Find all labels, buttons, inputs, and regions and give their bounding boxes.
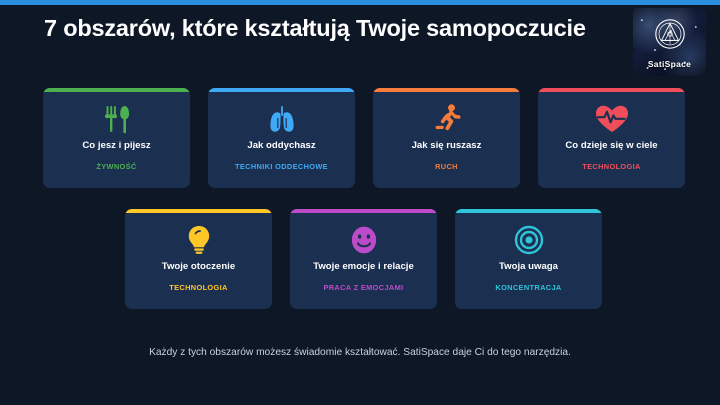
card-accent-bar <box>373 88 520 92</box>
footer-note: Każdy z tych obszarów możesz świadomie k… <box>0 347 720 358</box>
lightbulb-icon <box>185 220 213 260</box>
card-tag: KONCENTRACJA <box>495 283 561 292</box>
header: 7 obszarów, które kształtują Twoje samop… <box>44 13 604 44</box>
card-accent-bar <box>455 209 602 213</box>
smiley-face-icon <box>349 220 379 260</box>
card-title: Co jesz i pijesz <box>78 140 154 151</box>
satispace-logo: SatiSpace <box>633 8 706 76</box>
card-tag: TECHNOLOGIA <box>582 162 640 171</box>
card-food[interactable]: Co jesz i pijesz ŻYWNOŚĆ <box>43 88 190 188</box>
card-tag: TECHNOLOGIA <box>169 283 227 292</box>
card-accent-bar <box>538 88 685 92</box>
lungs-icon <box>266 99 298 139</box>
sacred-geometry-emblem-icon <box>653 17 687 56</box>
card-attention[interactable]: Twoja uwaga KONCENTRACJA <box>455 209 602 309</box>
fork-knife-icon <box>102 99 132 139</box>
card-movement[interactable]: Jak się ruszasz RUCH <box>373 88 520 188</box>
card-emotions[interactable]: Twoje emocje i relacje PRACA Z EMOCJAMI <box>290 209 437 309</box>
running-person-icon <box>432 99 462 139</box>
card-title: Jak się ruszasz <box>408 140 486 151</box>
target-circles-icon <box>513 220 545 260</box>
logo-brand-text: SatiSpace <box>648 59 691 69</box>
card-title: Twoja uwaga <box>495 261 562 272</box>
heart-pulse-icon <box>595 99 629 139</box>
card-accent-bar <box>290 209 437 213</box>
card-accent-bar <box>208 88 355 92</box>
card-tag: TECHNIKI ODDECHOWE <box>235 162 328 171</box>
card-body[interactable]: Co dzieje się w ciele TECHNOLOGIA <box>538 88 685 188</box>
card-title: Jak oddychasz <box>243 140 319 151</box>
card-tag: PRACA Z EMOCJAMI <box>323 283 403 292</box>
card-tag: RUCH <box>435 162 458 171</box>
card-title: Twoje otoczenie <box>158 261 239 272</box>
card-breathing[interactable]: Jak oddychasz TECHNIKI ODDECHOWE <box>208 88 355 188</box>
slide-canvas: 7 obszarów, które kształtują Twoje samop… <box>0 0 720 405</box>
top-accent-bar <box>0 0 720 5</box>
card-row-top: Co jesz i pijesz ŻYWNOŚĆ Jak <box>43 88 685 188</box>
card-row-bottom: Twoje otoczenie TECHNOLOGIA Twoje emocje… <box>125 209 602 309</box>
card-title: Twoje emocje i relacje <box>309 261 418 272</box>
card-tag: ŻYWNOŚĆ <box>96 162 136 171</box>
card-environment[interactable]: Twoje otoczenie TECHNOLOGIA <box>125 209 272 309</box>
card-title: Co dzieje się w ciele <box>561 140 661 151</box>
card-accent-bar <box>43 88 190 92</box>
page-title: 7 obszarów, które kształtują Twoje samop… <box>44 13 604 44</box>
card-accent-bar <box>125 209 272 213</box>
